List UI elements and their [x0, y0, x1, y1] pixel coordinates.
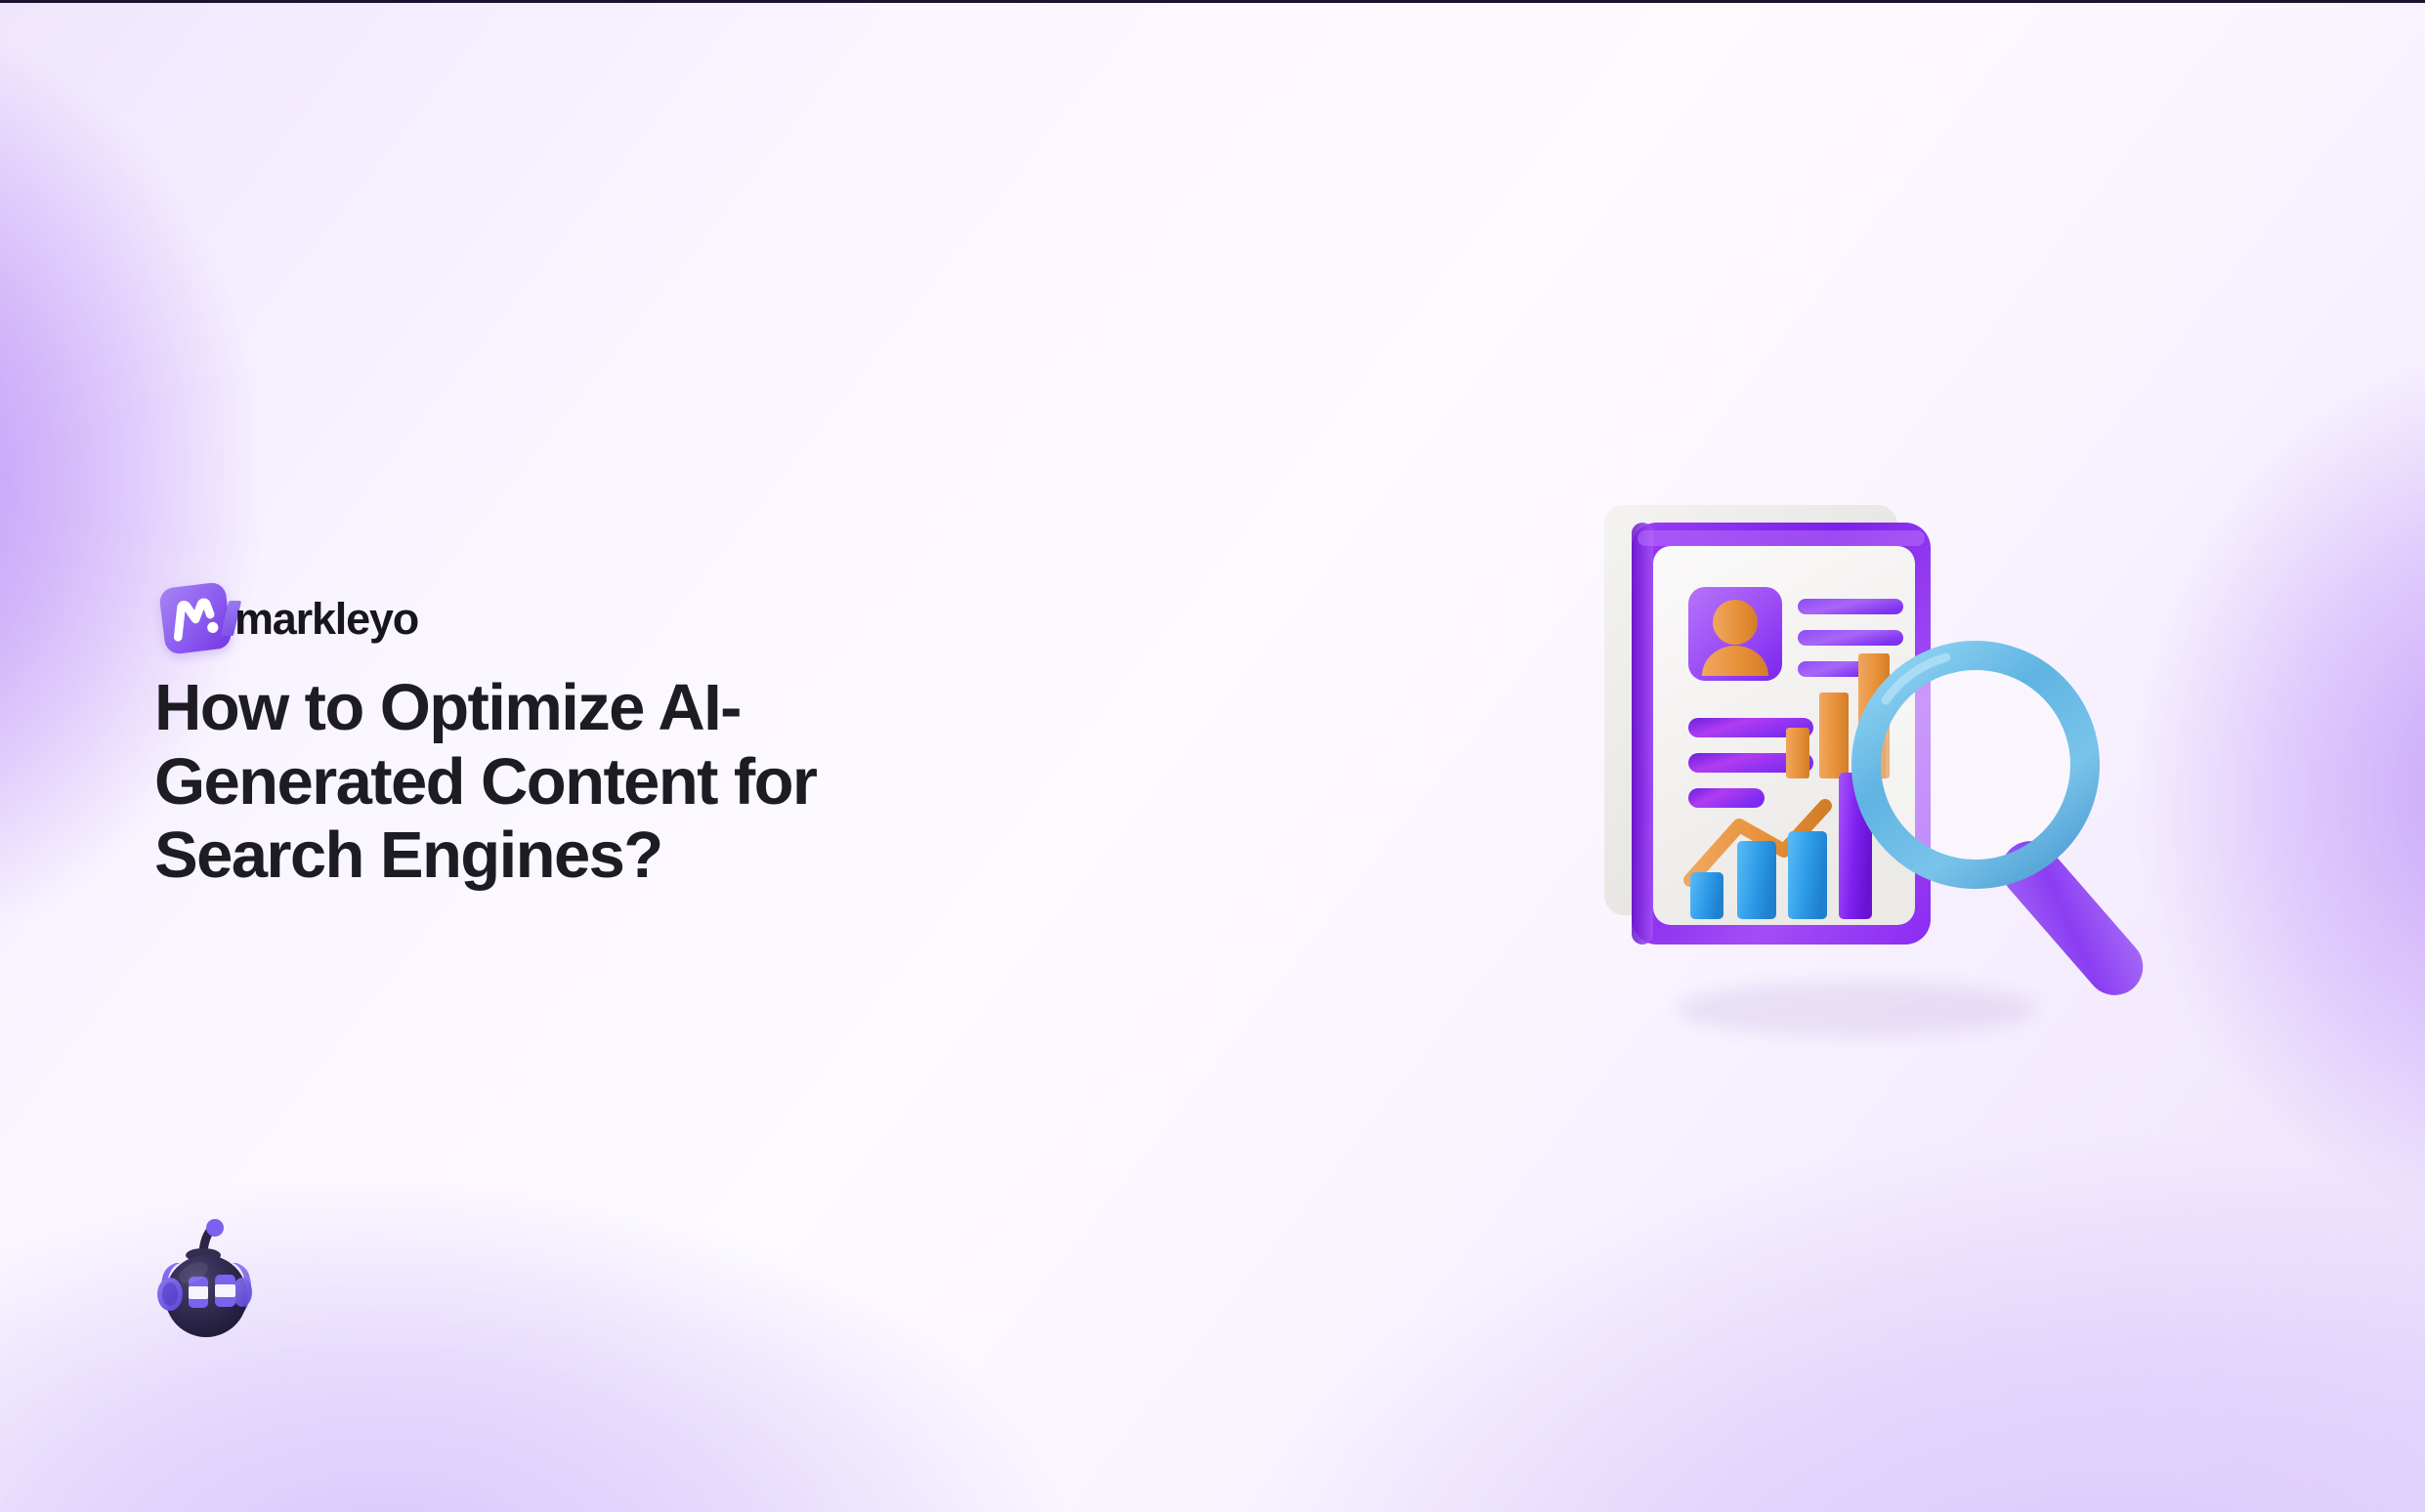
robot-mascot-icon [133, 1212, 279, 1359]
slide-canvas: markleyo How to Optimize AI- Generated C… [0, 0, 2425, 1512]
profile-avatar-tile [1688, 587, 1782, 681]
page-title: How to Optimize AI- Generated Content fo… [154, 671, 1151, 893]
brand-lockup: markleyo [162, 585, 418, 651]
logo-m-glyph [158, 581, 233, 655]
seo-report-magnifier-icon [1593, 462, 2237, 1048]
brand-wordmark: markleyo [234, 597, 418, 641]
markleyo-m-logo-icon [158, 581, 233, 655]
